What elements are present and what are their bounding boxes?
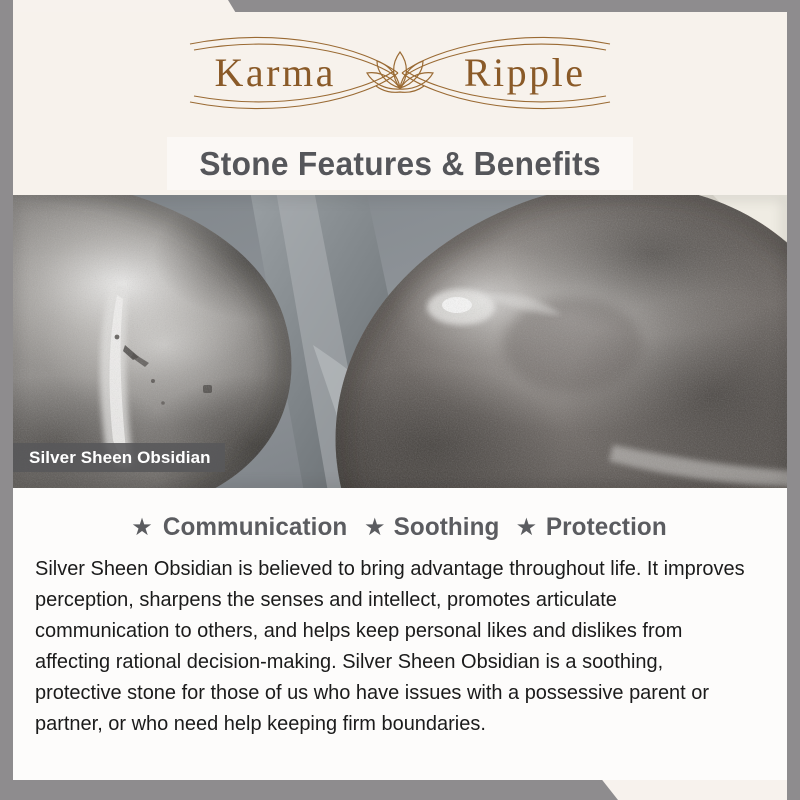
benefit-label: Soothing	[394, 513, 500, 542]
brand-name-left: Karma	[215, 53, 336, 93]
frame-right-strip	[787, 0, 800, 800]
title-plate: Stone Features & Benefits	[167, 137, 633, 190]
photo-caption-label: Silver Sheen Obsidian	[29, 448, 211, 468]
brand-logo: Karma Ripple	[170, 30, 630, 116]
poster-canvas: Karma Ripple Stone Features & Benefits	[0, 0, 800, 800]
title-band: Stone Features & Benefits	[13, 134, 787, 196]
brand-header: Karma Ripple	[13, 12, 787, 134]
stone-photo: Silver Sheen Obsidian	[13, 195, 787, 488]
brand-name-right: Ripple	[464, 53, 586, 93]
poster-page: Karma Ripple Stone Features & Benefits	[13, 12, 787, 780]
photo-caption: Silver Sheen Obsidian	[13, 443, 225, 472]
star-icon: ★	[364, 516, 386, 540]
benefits-row: ★ Communication ★ Soothing ★ Protection	[13, 513, 787, 542]
description-paragraph: Silver Sheen Obsidian is believed to bri…	[35, 554, 754, 740]
benefit-item-protection: ★ Protection	[516, 513, 669, 542]
page-title: Stone Features & Benefits	[199, 145, 601, 183]
star-icon: ★	[516, 516, 538, 540]
benefit-item-communication: ★ Communication	[131, 513, 350, 542]
frame-left-strip	[0, 0, 13, 800]
star-icon: ★	[131, 516, 153, 540]
benefit-item-soothing: ★ Soothing	[364, 513, 502, 542]
benefit-label: Protection	[546, 513, 667, 542]
content-panel: ★ Communication ★ Soothing ★ Protection …	[13, 488, 787, 780]
benefit-label: Communication	[163, 513, 347, 542]
